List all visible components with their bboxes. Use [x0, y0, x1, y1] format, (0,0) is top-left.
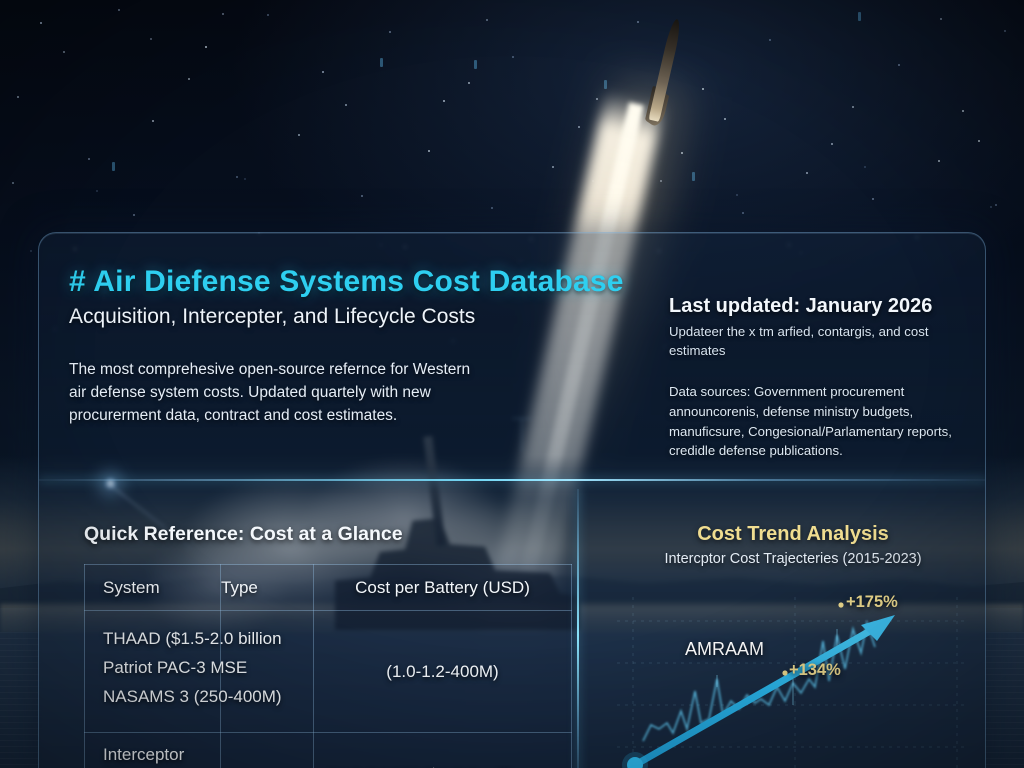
- sky-artifact-icon: [380, 58, 383, 67]
- table-header-row: System Type Cost per Battery (USD): [85, 565, 572, 611]
- annotation-dot-top: [838, 602, 843, 607]
- system-line-patriot: Patriot PAC-3 MSE: [103, 653, 220, 682]
- cell-system-interceptor: Interceptor Costs: [85, 733, 221, 768]
- data-sources: Data sources: Government procurement ann…: [669, 382, 984, 460]
- annotation-134-percent: +134%: [789, 661, 841, 680]
- sources-line-1: Data sources: Government procurement: [669, 382, 984, 402]
- chart-title: Cost Trend Analysis: [599, 523, 986, 546]
- system-line-nasams: NASAMS 3 (250-400M): [103, 682, 220, 711]
- trend-chart-block: Cost Trend Analysis Intercptor Cost Traj…: [599, 523, 986, 768]
- hero-block: # Air Diefense Systems Cost Database Acq…: [69, 265, 561, 428]
- sky-artifact-icon: [112, 162, 115, 171]
- metadata-block: Last updated: January 2026 Updateer the …: [669, 295, 984, 461]
- page-title: # Air Diefense Systems Cost Database: [69, 265, 561, 299]
- last-updated-title: Last updated: January 2026: [669, 295, 984, 318]
- description-line-3: procurerment data, contract and cost est…: [69, 405, 561, 428]
- sources-line-3: manuficsure, Congesional/Parlamentary re…: [669, 422, 984, 442]
- cell-system-list: THAAD ($1.5-2.0 billion Patriot PAC-3 MS…: [85, 611, 221, 733]
- column-header-cost: Cost per Battery (USD): [314, 565, 572, 611]
- description-line-2: air defense system costs. Updated quarte…: [69, 382, 561, 405]
- table-row: THAAD ($1.5-2.0 billion Patriot PAC-3 MS…: [85, 611, 572, 733]
- series-label-amraam: AMRAAM: [685, 639, 764, 660]
- cost-table: System Type Cost per Battery (USD) THAAD…: [84, 564, 572, 768]
- cell-cost: PAC-3 MSE ($4-5-5 million: [314, 733, 572, 768]
- trend-arrow: [622, 615, 895, 768]
- table-row: Interceptor Costs PAC-3 MSE ($4-5-5 mill…: [85, 733, 572, 768]
- description-line-1: The most comprehesive open-source refern…: [69, 359, 561, 382]
- cell-cost: (1.0-1.2-400M): [314, 611, 572, 733]
- starfield-bright: [0, 0, 2, 2]
- chart-plot-area: AMRAAM +175% +134%: [599, 583, 986, 768]
- column-header-type: Type: [221, 565, 314, 611]
- sky-artifact-icon: [858, 12, 861, 21]
- page-description: The most comprehesive open-source refern…: [69, 359, 561, 428]
- annotation-dot-mid: [782, 670, 787, 675]
- chart-subtitle: Intercptor Cost Trajecteries (2015-2023): [599, 551, 986, 567]
- sky-artifact-icon: [474, 60, 477, 69]
- main-glass-card: # Air Diefense Systems Cost Database Acq…: [38, 232, 986, 768]
- quick-reference-block: Quick Reference: Cost at a Glance System…: [84, 523, 574, 768]
- annotation-175-percent: +175%: [846, 593, 898, 612]
- horizontal-divider: [39, 479, 986, 481]
- update-note: Updateer the x tm arfied, contargis, and…: [669, 323, 984, 360]
- quick-reference-title: Quick Reference: Cost at a Glance: [84, 523, 574, 546]
- cell-type: [221, 733, 314, 768]
- column-header-system: System: [85, 565, 221, 611]
- system-line-thaad: THAAD ($1.5-2.0 billion: [103, 624, 220, 653]
- sources-line-4: credidle defense publications.: [669, 441, 984, 461]
- vertical-divider: [577, 489, 579, 768]
- starfield-dim: [0, 120, 2, 122]
- page-subtitle: Acquisition, Intercepter, and Lifecycle …: [69, 305, 561, 329]
- sources-line-2: announcorenis, defense ministry budgets,: [669, 402, 984, 422]
- infographic-canvas: # Air Diefense Systems Cost Database Acq…: [0, 0, 1024, 768]
